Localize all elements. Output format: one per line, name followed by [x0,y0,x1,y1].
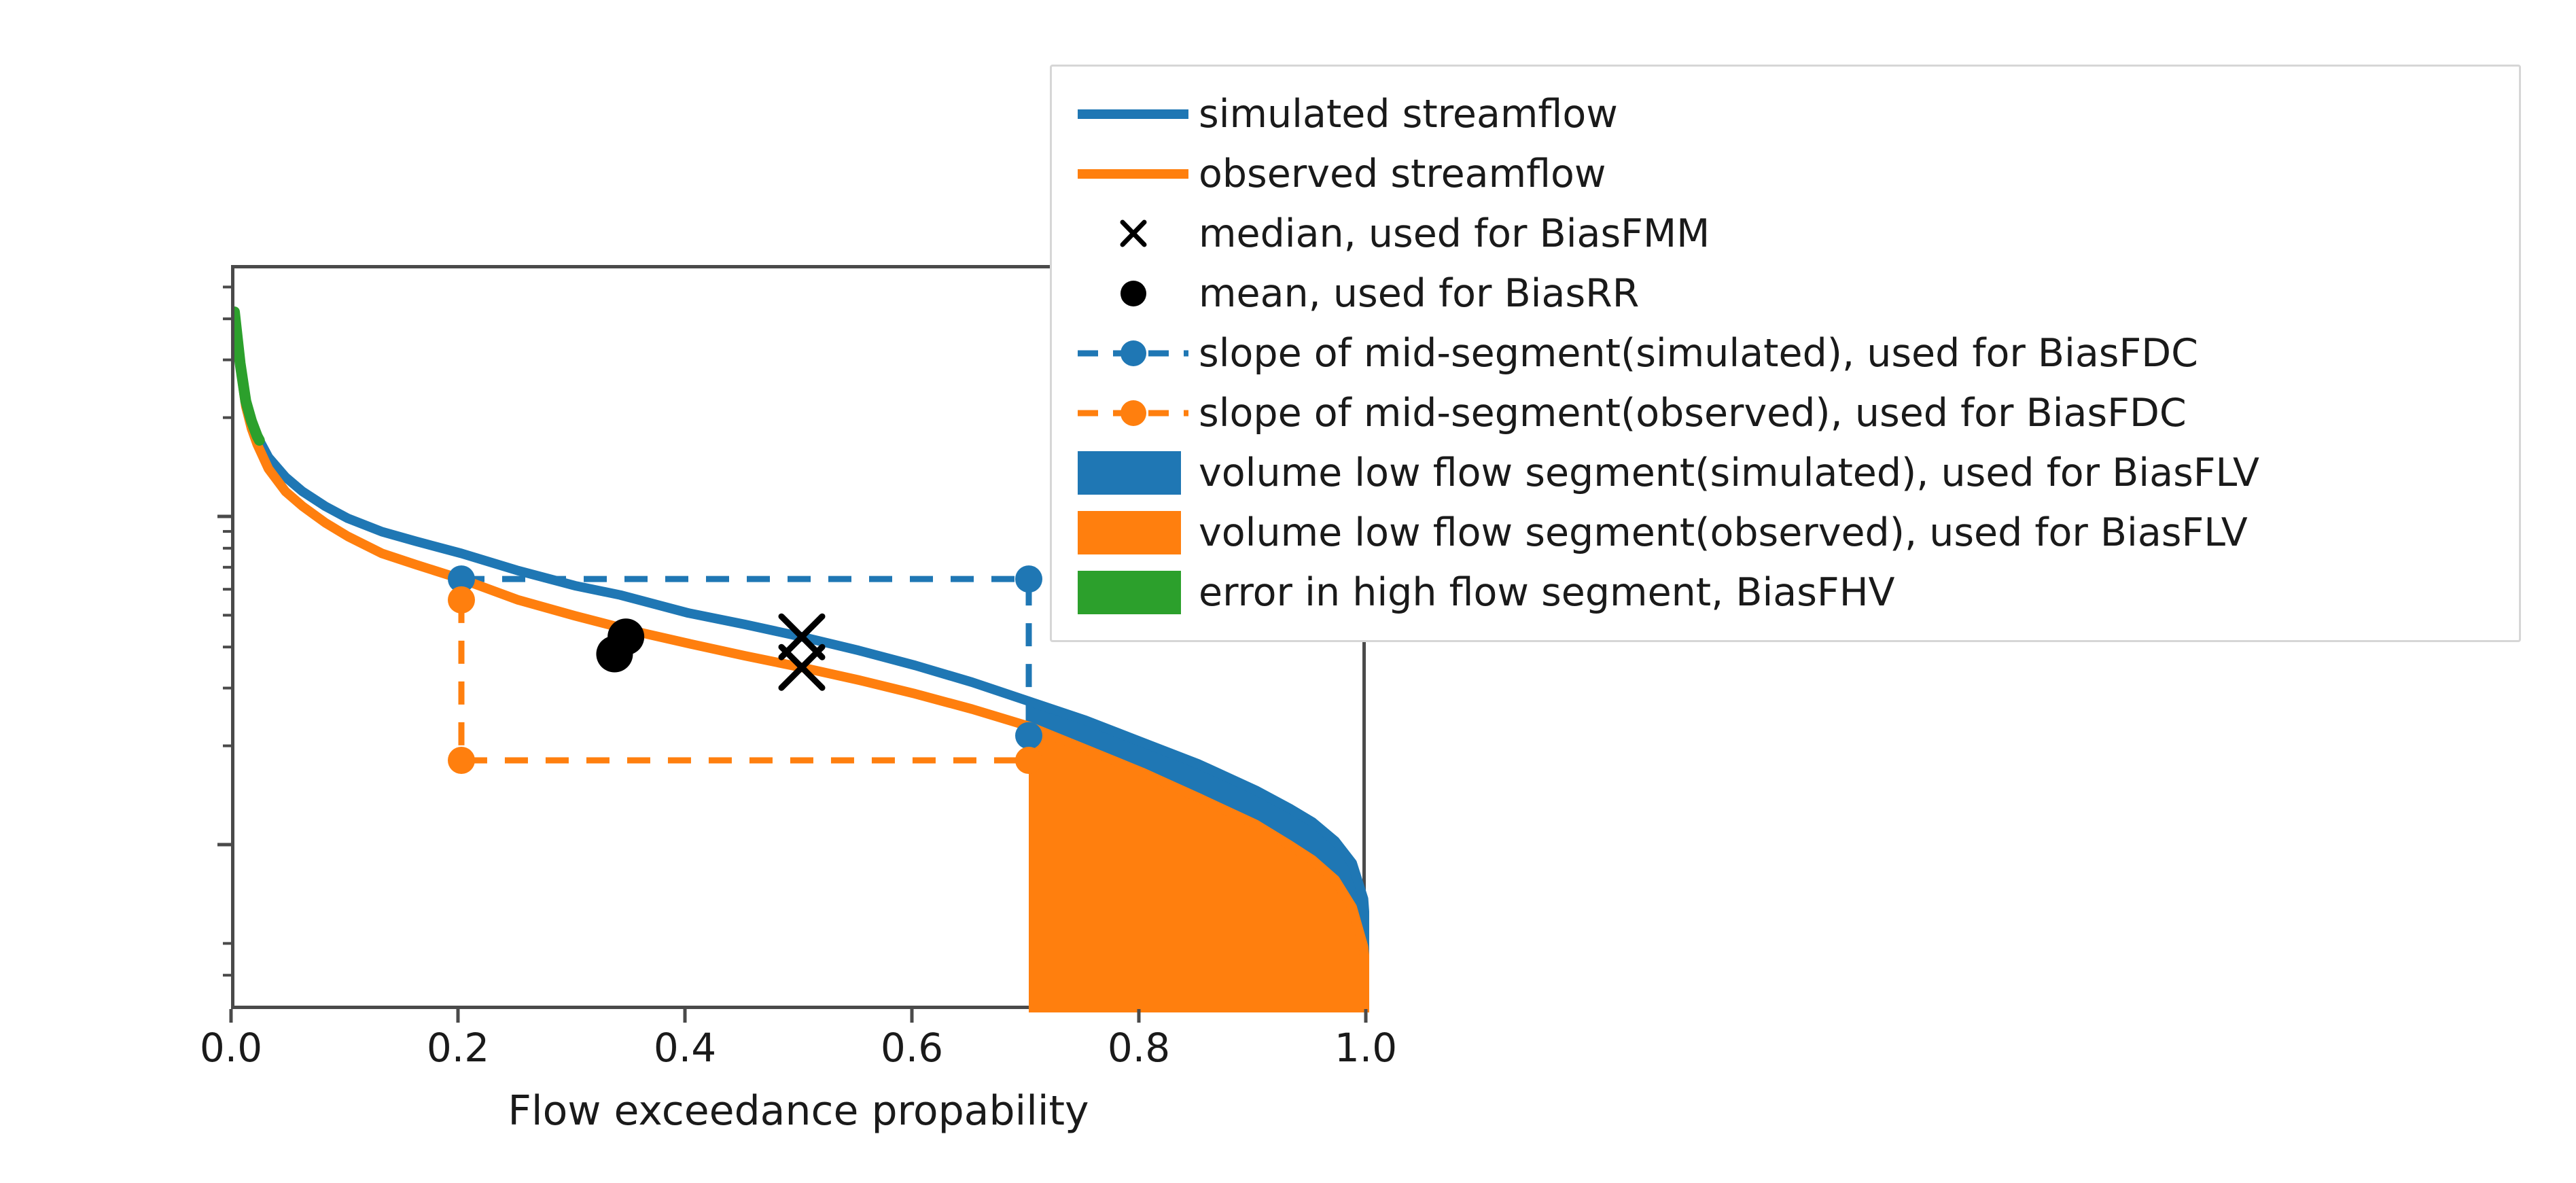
legend-key-patch-observed [1070,503,1199,563]
x-tick-label-1: 0.2 [427,1025,489,1071]
legend-label-mid-segment-observed: slope of mid-segment(observed), used for… [1199,394,2187,433]
legend-key-line-observed [1070,144,1199,204]
x-axis-label: Flow exceedance propability [231,1087,1366,1135]
legend-item-mid-segment-simulated: slope of mid-segment(simulated), used fo… [1070,323,2499,383]
legend-label-high-flow-error: error in high flow segment, BiasFHV [1199,573,1895,612]
legend-label-observed-streamflow: observed streamflow [1199,155,1606,194]
median-markers [781,616,822,688]
legend-item-simulated-streamflow: simulated streamflow [1070,84,2499,144]
legend-item-observed-streamflow: observed streamflow [1070,144,2499,204]
y-tick-label-group: 102 101 [0,0,217,1183]
x-tick-label-3: 0.6 [881,1025,943,1071]
legend-key-patch-simulated [1070,443,1199,503]
legend-key-patch-high-flow [1070,563,1199,622]
legend: simulated streamflow observed streamflow… [1050,65,2521,642]
legend-label-mid-segment-simulated: slope of mid-segment(simulated), used fo… [1199,334,2198,373]
legend-key-line-simulated [1070,84,1199,144]
x-tick-label-0: 0.0 [200,1025,262,1071]
legend-label-mean: mean, used for BiasRR [1199,275,1639,313]
mid-segment-endpoint-markers [448,565,1042,774]
legend-label-low-flow-observed: volume low flow segment(observed), used … [1199,514,2248,552]
legend-key-x-marker [1070,204,1199,264]
flow-duration-curve-figure: log(streamflow) [m³/s] 102 101 0.0 0.2 0… [0,0,2576,1183]
x-tick-label-2: 0.4 [654,1025,716,1071]
legend-item-high-flow-error: error in high flow segment, BiasFHV [1070,563,2499,622]
legend-label-simulated-streamflow: simulated streamflow [1199,95,1618,134]
curve-high-flow-segment [234,312,260,440]
legend-key-dashed-dot-observed [1070,383,1199,443]
legend-item-median: median, used for BiasFMM [1070,204,2499,264]
legend-key-dashed-dot-simulated [1070,323,1199,383]
legend-item-mean: mean, used for BiasRR [1070,264,2499,323]
legend-item-low-flow-simulated: volume low flow segment(simulated), used… [1070,443,2499,503]
legend-label-median: median, used for BiasFMM [1199,215,1710,253]
legend-item-mid-segment-observed: slope of mid-segment(observed), used for… [1070,383,2499,443]
legend-item-low-flow-observed: volume low flow segment(observed), used … [1070,503,2499,563]
legend-key-dot-marker [1070,264,1199,323]
legend-label-low-flow-simulated: volume low flow segment(simulated), used… [1199,454,2259,493]
x-tick-label-4: 0.8 [1108,1025,1170,1071]
x-tick-label-5: 1.0 [1335,1025,1397,1071]
